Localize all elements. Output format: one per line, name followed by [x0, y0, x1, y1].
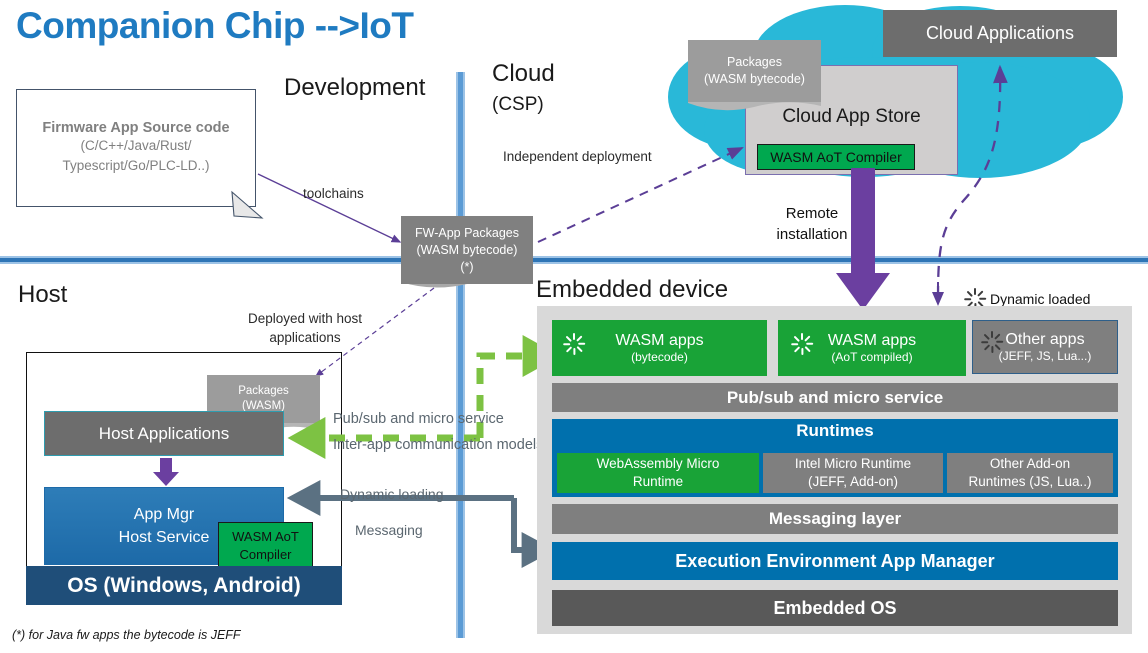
cloud-wasm-aot-compiler: WASM AoT Compiler	[757, 144, 915, 170]
host-applications-box: Host Applications	[44, 411, 284, 456]
embedded-runtimes-title: Runtimes	[552, 421, 1118, 441]
page-title: Companion Chip -->IoT	[16, 2, 616, 50]
embedded-pubsub-layer: Pub/sub and micro service	[552, 383, 1118, 412]
wasm-bytecode-title: WASM apps	[615, 332, 703, 350]
dynamic-loading-label: Dynamic loading	[340, 486, 444, 502]
wasm-aot-sub: (AoT compiled)	[831, 350, 912, 364]
embedded-os: Embedded OS	[552, 590, 1118, 626]
cloud-packages-callout: Packages (WASM bytecode)	[688, 40, 821, 102]
independent-deployment-label: Independent deployment	[503, 149, 652, 164]
cloud-packages-line2: (WASM bytecode)	[704, 71, 805, 88]
wasm-aot-title: WASM apps	[828, 332, 916, 350]
firmware-source-line1: (C/C++/Java/Rust/	[80, 136, 191, 156]
messaging-label: Messaging	[355, 522, 423, 538]
toolchains-arrow	[256, 170, 416, 250]
runtime-1-line2: Runtime	[633, 473, 683, 491]
dynamic-loaded-legend-label: Dynamic loaded	[990, 291, 1090, 307]
other-apps-spinner-icon	[980, 331, 1002, 353]
pubsub-green-dashed-arrows	[276, 334, 576, 454]
host-os-box: OS (Windows, Android)	[26, 566, 342, 605]
fw-packages-line2: (WASM bytecode)	[417, 242, 518, 259]
runtime-2-line1: Intel Micro Runtime	[795, 455, 911, 473]
fw-packages-line3: (*)	[460, 259, 473, 276]
cloud-packages-line1: Packages	[727, 54, 782, 71]
fw-app-packages-callout: FW-App Packages (WASM bytecode) (*)	[401, 216, 533, 284]
pubsub-arrow-label: Pub/sub and micro service	[333, 411, 504, 427]
toolchains-label: toolchains	[303, 186, 364, 201]
embedded-messaging-layer: Messaging layer	[552, 504, 1118, 534]
other-apps-sub: (JEFF, JS, Lua...)	[999, 349, 1092, 363]
runtime-3-line1: Other Add-on	[990, 455, 1070, 473]
embedded-app-manager: Execution Environment App Manager	[552, 542, 1118, 580]
section-heading-cloud-sub: (CSP)	[492, 94, 544, 116]
wasm-bytecode-spinner-icon	[562, 333, 584, 355]
runtime-2-line2: (JEFF, Add-on)	[808, 473, 898, 491]
section-heading-development: Development	[284, 74, 425, 102]
firmware-source-title: Firmware App Source code	[42, 120, 229, 136]
section-heading-embedded-device: Embedded device	[536, 276, 728, 304]
firmware-source-line2: Typescript/Go/PLC-LD..)	[62, 156, 209, 176]
wasm-aot-spinner-icon	[790, 333, 812, 355]
fw-packages-line1: FW-App Packages	[415, 225, 519, 242]
runtime-webassembly-micro: WebAssembly Micro Runtime	[557, 453, 759, 493]
device-to-cloud-dashed-curve	[920, 45, 1040, 305]
firmware-source-code-box: Firmware App Source code (C/C++/Java/Rus…	[16, 89, 256, 207]
app-mgr-line2: Host Service	[119, 526, 210, 549]
section-heading-host: Host	[18, 281, 67, 309]
host-apps-to-appmgr-arrow	[152, 458, 182, 488]
section-heading-cloud: Cloud	[492, 60, 555, 88]
wasm-bytecode-sub: (bytecode)	[631, 350, 688, 364]
runtime-other-addon: Other Add-on Runtimes (JS, Lua..)	[947, 453, 1113, 493]
embedded-app-wasm-bytecode: WASM apps (bytecode)	[552, 320, 767, 376]
remote-line2: installation	[772, 224, 852, 245]
runtime-3-line2: Runtimes (JS, Lua..)	[968, 473, 1091, 491]
other-apps-title: Other apps	[1005, 331, 1084, 349]
remote-installation-label: Remote installation	[772, 203, 852, 245]
runtime-1-line1: WebAssembly Micro	[597, 455, 720, 473]
remote-line1: Remote	[772, 203, 852, 224]
diagram-canvas: Companion Chip -->IoT Development Cloud …	[0, 0, 1148, 653]
runtime-intel-micro: Intel Micro Runtime (JEFF, Add-on)	[763, 453, 943, 493]
footnote: (*) for Java fw apps the bytecode is JEF…	[12, 628, 241, 642]
inter-app-arrow-label: Inter-app communication models	[333, 437, 543, 453]
app-mgr-line1: App Mgr	[134, 503, 194, 526]
